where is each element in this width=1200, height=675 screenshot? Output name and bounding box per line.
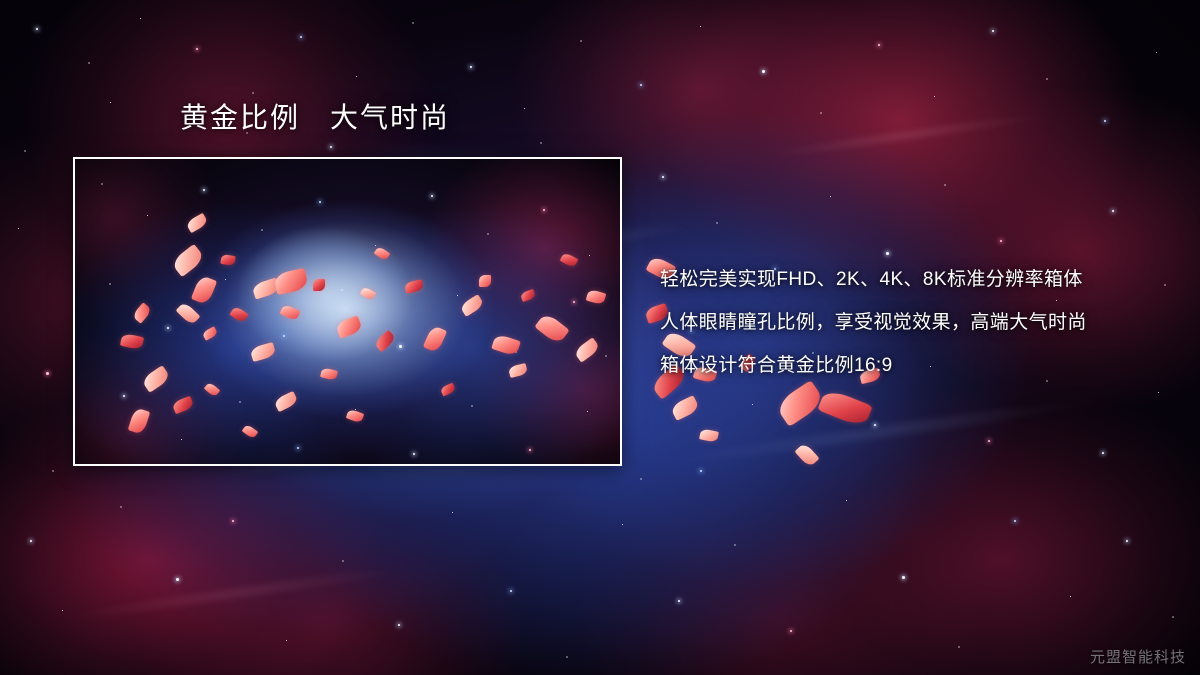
page-title: 黄金比例 大气时尚 bbox=[180, 101, 450, 135]
body-line-3: 箱体设计符合黄金比例16:9 bbox=[660, 344, 1130, 387]
framed-image bbox=[73, 157, 622, 466]
presentation-slide: 黄金比例 大气时尚 bbox=[0, 0, 1200, 675]
body-text-block: 轻松完美实现FHD、2K、4K、8K标准分辨率箱体 人体眼睛瞳孔比例，享受视觉效… bbox=[660, 258, 1130, 387]
body-line-1: 轻松完美实现FHD、2K、4K、8K标准分辨率箱体 bbox=[660, 258, 1130, 301]
body-line-2: 人体眼睛瞳孔比例，享受视觉效果，高端大气时尚 bbox=[660, 301, 1130, 344]
watermark: 元盟智能科技 bbox=[1090, 646, 1186, 667]
